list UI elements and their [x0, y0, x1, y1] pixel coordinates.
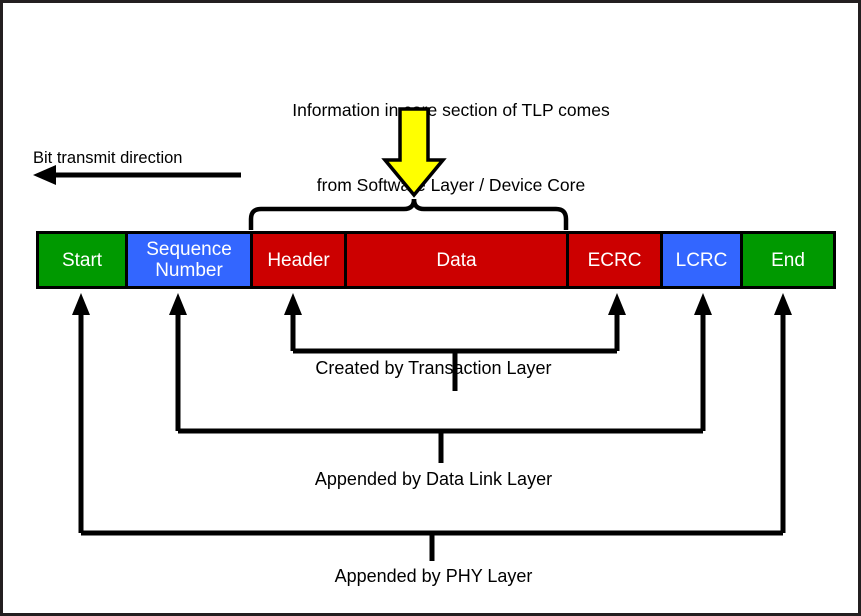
core-section-caption: Information in core section of TLP comes… — [261, 48, 641, 248]
packet-segment-start-label: Start — [62, 250, 102, 271]
arrow-to-header — [284, 293, 302, 351]
packet-segment-lcrc-label: LCRC — [676, 250, 728, 271]
packet-segment-data[interactable]: Data — [347, 234, 569, 286]
arrow-to-end — [774, 293, 792, 533]
packet-segment-sequence-number[interactable]: Sequence Number — [128, 234, 253, 286]
datalink-layer-label: Appended by Data Link Layer — [3, 469, 861, 490]
packet-segment-start[interactable]: Start — [39, 234, 128, 286]
transaction-layer-label: Created by Transaction Layer — [3, 358, 861, 379]
packet-segment-end[interactable]: End — [743, 234, 833, 286]
packet-segment-data-label: Data — [436, 250, 476, 271]
tlp-packet-bar: Start Sequence Number Header Data ECRC L… — [36, 231, 836, 289]
bit-transmit-direction-arrow — [33, 165, 241, 185]
packet-segment-end-label: End — [771, 250, 805, 271]
packet-segment-lcrc[interactable]: LCRC — [663, 234, 743, 286]
datalink-layer-bracket — [178, 431, 703, 463]
diagram-canvas: Information in core section of TLP comes… — [0, 0, 861, 616]
arrow-to-start — [72, 293, 90, 533]
layer-connector-arrows — [72, 293, 792, 533]
packet-segment-sequence-number-label: Sequence Number — [146, 239, 232, 281]
packet-segment-header[interactable]: Header — [253, 234, 347, 286]
core-section-caption-line1: Information in core section of TLP comes — [261, 98, 641, 123]
packet-segment-header-label: Header — [267, 250, 329, 271]
phy-layer-bracket — [81, 533, 783, 561]
packet-segment-ecrc-label: ECRC — [588, 250, 642, 271]
phy-layer-label: Appended by PHY Layer — [3, 566, 861, 587]
arrow-to-ecrc — [608, 293, 626, 351]
bit-transmit-direction-label: Bit transmit direction — [33, 149, 182, 168]
core-section-caption-line2: from Software Layer / Device Core — [261, 173, 641, 198]
packet-segment-ecrc[interactable]: ECRC — [569, 234, 663, 286]
